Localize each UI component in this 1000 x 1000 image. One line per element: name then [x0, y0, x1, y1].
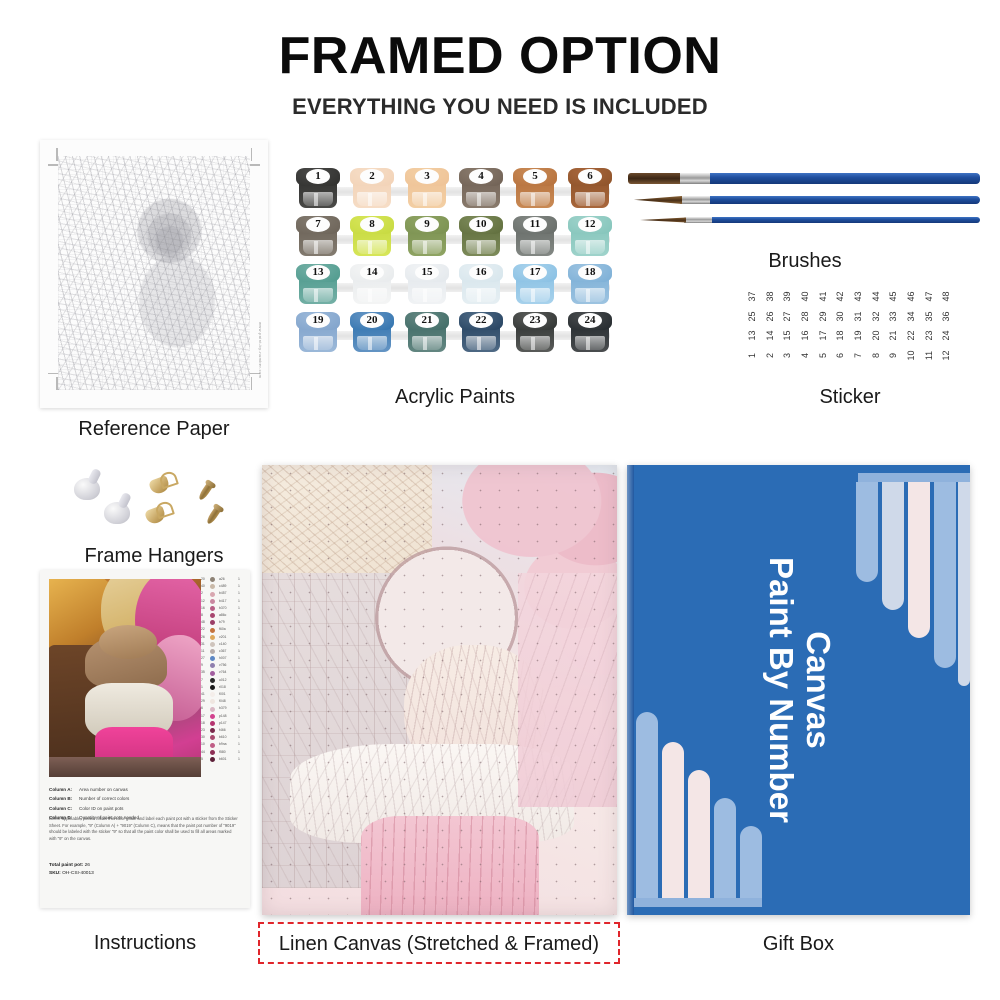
paint-pot-14: 14 — [350, 264, 394, 306]
legend-color-id: b417 — [219, 599, 227, 603]
gift-box-top-bar — [858, 473, 970, 482]
legend-color-swatch — [210, 642, 215, 647]
legend-row: 11c3671 — [201, 648, 245, 655]
paint-pot-3: 3 — [405, 168, 449, 210]
paint-pot-19: 19 — [296, 312, 340, 354]
legend-color-id: b601 — [219, 757, 227, 761]
legend-row: 20a261 — [201, 576, 245, 583]
sticker-column: 4432208 — [868, 288, 885, 366]
legend-color-id: f60a — [219, 627, 226, 631]
legend-area-number: 5 — [201, 757, 203, 761]
legend-quantity: 1 — [238, 692, 240, 696]
instructions-column-line: Column B:Number of correct colors — [49, 793, 198, 802]
sticker-number-3: 3 — [779, 347, 796, 364]
paint-pot-number: 19 — [306, 313, 330, 328]
paint-pot-22: 22 — [459, 312, 503, 354]
paint-pot-number: 4 — [469, 169, 493, 184]
paint-pot-6: 6 — [568, 168, 612, 210]
sticker-number-44: 44 — [868, 288, 885, 305]
legend-color-id: f048 — [219, 699, 226, 703]
column-description: Number of correct colors — [79, 796, 129, 801]
legend-quantity: 1 — [238, 728, 240, 732]
legend-area-number: 48 — [201, 620, 205, 624]
legend-row: 10b9na1 — [201, 741, 245, 748]
legend-row: 8a86c1 — [201, 612, 245, 619]
legend-color-swatch — [210, 656, 215, 661]
legend-color-id: c367 — [219, 649, 226, 653]
legend-color-id: v201 — [219, 635, 226, 639]
legend-quantity: 1 — [238, 721, 240, 725]
paint-pot-21: 21 — [405, 312, 449, 354]
column-description: Color ID on paint pots — [79, 806, 123, 811]
paint-pot-number: 15 — [415, 265, 439, 280]
legend-quantity: 1 — [238, 678, 240, 682]
sticker-sheet: 3725131382614239271534028164412917542301… — [744, 288, 956, 366]
paint-pot-4: 4 — [459, 168, 503, 210]
legend-color-swatch — [210, 628, 215, 633]
paint-pot-number: 21 — [415, 313, 439, 328]
instructions-color-legend: 20a26140c48912b457112b417116b37018a86c14… — [201, 576, 245, 778]
instructions-preview-image — [49, 579, 201, 777]
instructions-paragraph: where applicable, please follow this col… — [49, 816, 240, 842]
acrylic-paints-label: Acrylic Paints — [292, 386, 618, 409]
legend-color-swatch — [210, 743, 215, 748]
legend-color-id: f001 — [219, 692, 226, 696]
legend-row: 2b4571 — [201, 590, 245, 597]
legend-quantity: 1 — [238, 663, 240, 667]
sticker-number-32: 32 — [868, 308, 885, 325]
sticker-column: 4230186 — [832, 288, 849, 366]
brush-large — [628, 173, 980, 184]
legend-color-swatch — [210, 685, 215, 690]
instructions-sheet: 20a26140c48912b457112b417116b37018a86c14… — [40, 570, 250, 908]
brush-medium — [628, 196, 980, 204]
legend-area-number: 30 — [201, 735, 205, 739]
paint-pot-number: 10 — [469, 217, 493, 232]
sticker-number-33: 33 — [885, 308, 902, 325]
legend-quantity: 1 — [238, 656, 240, 660]
paint-pot-number: 18 — [578, 265, 602, 280]
sticker-number-27: 27 — [779, 308, 796, 325]
paint-pot-12: 12 — [568, 216, 612, 258]
paint-pot-row: 123456 — [292, 168, 618, 210]
legend-area-number: 22 — [201, 627, 205, 631]
linen-canvas — [262, 465, 617, 915]
reference-paper-watermark: www.paint-by-number.com — [258, 322, 263, 378]
paint-pot-rail — [300, 187, 610, 196]
legend-color-id: c489 — [219, 584, 226, 588]
legend-area-number: 12 — [201, 599, 205, 603]
reference-paper-label: Reference Paper — [40, 418, 268, 441]
legend-color-id: v756 — [219, 663, 226, 667]
legend-area-number: 41 — [201, 692, 205, 696]
gift-box-title-line-1: Canvas — [799, 557, 836, 823]
paint-pot-number: 3 — [415, 169, 439, 184]
legend-color-swatch — [210, 663, 215, 668]
sticker-label: Sticker — [744, 386, 956, 409]
legend-quantity: 1 — [238, 635, 240, 639]
legend-color-swatch — [210, 606, 215, 611]
paint-pot-number: 24 — [578, 313, 602, 328]
paint-pot-number: 13 — [306, 265, 330, 280]
legend-row: 30b6101 — [201, 734, 245, 741]
legend-color-id: a26 — [219, 577, 225, 581]
legend-color-id: r018 — [219, 685, 226, 689]
legend-quantity: 1 — [238, 599, 240, 603]
legend-color-swatch — [210, 671, 215, 676]
paint-pot-row: 131415161718 — [292, 264, 618, 306]
legend-row: 23f4661 — [201, 727, 245, 734]
frame-hangers-label: Frame Hangers — [40, 545, 268, 568]
legend-color-swatch — [210, 678, 215, 683]
total-paint-pots-label: Total paint pot: — [49, 863, 83, 868]
sticker-number-11: 11 — [921, 347, 938, 364]
legend-row: 7u0121 — [201, 677, 245, 684]
page-subtitle: EVERYTHING YOU NEED IS INCLUDED — [0, 96, 1000, 118]
paint-pot-5: 5 — [513, 168, 557, 210]
wall-plug-icon — [104, 502, 130, 524]
legend-area-number: 2 — [201, 591, 203, 595]
sticker-number-47: 47 — [921, 288, 938, 305]
brushes — [628, 165, 980, 243]
legend-color-id: c140 — [219, 642, 226, 646]
brushes-label: Brushes — [700, 250, 910, 273]
paint-pot-number: 11 — [523, 217, 547, 232]
legend-color-swatch — [210, 692, 215, 697]
legend-area-number: 29 — [201, 699, 205, 703]
sku-value: OH-CSI-40013 — [62, 871, 94, 876]
legend-color-swatch — [210, 584, 215, 589]
legend-quantity: 1 — [238, 584, 240, 588]
paint-pot-2: 2 — [350, 168, 394, 210]
legend-color-id: b457 — [219, 591, 227, 595]
sticker-number-23: 23 — [921, 327, 938, 344]
sticker-column: 47352311 — [921, 288, 938, 366]
instructions-column-line: Column A:Area number on canvas — [49, 784, 198, 793]
paint-pot-number: 7 — [306, 217, 330, 232]
sticker-number-38: 38 — [762, 288, 779, 305]
sticker-number-4: 4 — [797, 347, 814, 364]
column-key: Column B: — [49, 796, 79, 802]
wall-plug-icon — [74, 478, 100, 500]
legend-color-swatch — [210, 613, 215, 618]
legend-quantity: 1 — [238, 670, 240, 674]
legend-area-number: 20 — [201, 577, 205, 581]
legend-color-swatch — [210, 757, 215, 762]
sticker-column: 3725131 — [744, 288, 761, 366]
legend-quantity: 1 — [238, 714, 240, 718]
instructions-label: Instructions — [40, 932, 250, 955]
paint-pot-rail — [300, 331, 610, 340]
legend-color-swatch — [210, 699, 215, 704]
legend-color-id: v764 — [219, 670, 226, 674]
sticker-number-6: 6 — [832, 347, 849, 364]
sticker-number-17: 17 — [815, 327, 832, 344]
gift-box-bottom-bar — [634, 898, 762, 907]
product-feature-image: FRAMED OPTION EVERYTHING YOU NEED IS INC… — [0, 0, 1000, 1000]
legend-color-swatch — [210, 620, 215, 625]
sticker-number-42: 42 — [832, 288, 849, 305]
sticker-number-12: 12 — [938, 347, 955, 364]
sticker-number-35: 35 — [921, 308, 938, 325]
sticker-number-1: 1 — [744, 347, 761, 364]
legend-quantity: 1 — [238, 606, 240, 610]
legend-area-number: 26 — [201, 635, 205, 639]
legend-color-swatch — [210, 714, 215, 719]
legend-color-id: f466 — [219, 728, 226, 732]
gift-box-title: Canvas Paint By Number — [762, 557, 836, 823]
legend-color-id: b370 — [219, 606, 227, 610]
gift-box: Canvas Paint By Number — [627, 465, 970, 915]
paint-pot-number: 8 — [360, 217, 384, 232]
paint-pot-13: 13 — [296, 264, 340, 306]
sticker-number-8: 8 — [868, 347, 885, 364]
legend-area-number: 16 — [201, 606, 205, 610]
sticker-number-10: 10 — [903, 347, 920, 364]
paint-pot-number: 16 — [469, 265, 493, 280]
legend-quantity: 1 — [238, 577, 240, 581]
paint-pot-8: 8 — [350, 216, 394, 258]
paint-pot-number: 1 — [306, 169, 330, 184]
instructions-column-line: Column C:Color ID on paint pots — [49, 803, 198, 812]
paint-pot-7: 7 — [296, 216, 340, 258]
legend-color-swatch — [210, 592, 215, 597]
legend-color-id: f580 — [219, 750, 226, 754]
legend-quantity: 1 — [238, 649, 240, 653]
sticker-number-19: 19 — [850, 327, 867, 344]
sticker-number-7: 7 — [850, 347, 867, 364]
legend-color-id: p147 — [219, 721, 227, 725]
sticker-number-13: 13 — [744, 327, 761, 344]
sticker-number-29: 29 — [815, 308, 832, 325]
sticker-number-25: 25 — [744, 308, 761, 325]
paint-pot-24: 24 — [568, 312, 612, 354]
column-description: Area number on canvas — [79, 787, 128, 792]
legend-color-id: b379 — [219, 706, 227, 710]
sticker-number-9: 9 — [885, 347, 902, 364]
d-ring-hanger-icon — [150, 474, 175, 496]
gift-box-title-line-2: Paint By Number — [762, 557, 799, 823]
sticker-column: 3927153 — [779, 288, 796, 366]
sticker-number-21: 21 — [885, 327, 902, 344]
paint-pot-number: 20 — [360, 313, 384, 328]
legend-color-swatch — [210, 649, 215, 654]
legend-row: 1r0181 — [201, 684, 245, 691]
legend-color-id: b610 — [219, 735, 227, 739]
legend-quantity: 1 — [238, 750, 240, 754]
legend-quantity: 1 — [238, 742, 240, 746]
sticker-number-30: 30 — [832, 308, 849, 325]
sticker-number-15: 15 — [779, 327, 796, 344]
legend-row: 48b791 — [201, 619, 245, 626]
legend-row: 16b3701 — [201, 605, 245, 612]
legend-color-swatch — [210, 635, 215, 640]
legend-row: 27h0071 — [201, 655, 245, 662]
paint-pot-number: 17 — [523, 265, 547, 280]
legend-row: 40c4891 — [201, 583, 245, 590]
legend-area-number: 11 — [201, 649, 205, 653]
linen-canvas-label: Linen Canvas (Stretched & Framed) — [258, 933, 620, 956]
legend-row: 41f0011 — [201, 691, 245, 698]
total-paint-pots-value: 26 — [85, 863, 90, 868]
brush-fine — [628, 217, 980, 223]
legend-quantity: 1 — [238, 685, 240, 689]
sticker-number-26: 26 — [762, 308, 779, 325]
legend-row: 17p1481 — [201, 713, 245, 720]
paint-pot-number: 22 — [469, 313, 493, 328]
legend-quantity: 1 — [238, 627, 240, 631]
legend-row: 29f0481 — [201, 698, 245, 705]
page-title: FRAMED OPTION — [0, 30, 1000, 82]
sticker-number-14: 14 — [762, 327, 779, 344]
legend-row: 9v7561 — [201, 662, 245, 669]
legend-color-swatch — [210, 599, 215, 604]
sticker-column: 3826142 — [762, 288, 779, 366]
legend-quantity: 1 — [238, 620, 240, 624]
legend-color-swatch — [210, 750, 215, 755]
paint-pot-9: 9 — [405, 216, 449, 258]
legend-quantity: 1 — [238, 757, 240, 761]
screw-icon — [205, 506, 221, 526]
legend-row: 6b3791 — [201, 705, 245, 712]
legend-color-swatch — [210, 728, 215, 733]
paint-pot-23: 23 — [513, 312, 557, 354]
reference-paper-lineart — [58, 156, 250, 390]
legend-row: 35v7641 — [201, 669, 245, 676]
paint-pot-number: 23 — [523, 313, 547, 328]
paint-pot-20: 20 — [350, 312, 394, 354]
legend-quantity: 1 — [238, 735, 240, 739]
sticker-number-45: 45 — [885, 288, 902, 305]
paint-pot-10: 10 — [459, 216, 503, 258]
legend-color-swatch — [210, 707, 215, 712]
legend-color-id: b9na — [219, 742, 227, 746]
paint-pot-row: 789101112 — [292, 216, 618, 258]
sticker-number-43: 43 — [850, 288, 867, 305]
legend-area-number: 10 — [201, 742, 205, 746]
legend-area-number: 31 — [201, 642, 205, 646]
sticker-number-34: 34 — [903, 308, 920, 325]
paint-pot-rail — [300, 235, 610, 244]
paint-pot-1: 1 — [296, 168, 340, 210]
legend-row: 26v2011 — [201, 634, 245, 641]
legend-color-swatch — [210, 577, 215, 582]
sticker-number-48: 48 — [938, 288, 955, 305]
sticker-column: 48362412 — [938, 288, 955, 366]
legend-quantity: 1 — [238, 699, 240, 703]
sticker-column: 4533219 — [885, 288, 902, 366]
paint-pot-number: 2 — [360, 169, 384, 184]
sticker-number-5: 5 — [815, 347, 832, 364]
frame-hangers — [62, 470, 262, 546]
sticker-number-39: 39 — [779, 288, 796, 305]
sticker-column: 4129175 — [815, 288, 832, 366]
gift-box-label: Gift Box — [627, 933, 970, 956]
reference-paper: www.paint-by-number.com — [40, 140, 268, 408]
sticker-column: 4331197 — [850, 288, 867, 366]
instructions-footer: Total paint pot: 26 SKU: OH-CSI-40013 — [49, 862, 94, 878]
paint-pot-rail — [300, 283, 610, 292]
sticker-number-37: 37 — [744, 288, 761, 305]
sticker-number-36: 36 — [938, 308, 955, 325]
gift-box-spine — [627, 465, 634, 915]
legend-area-number: 18 — [201, 721, 205, 725]
paint-pot-16: 16 — [459, 264, 503, 306]
legend-area-number: 7 — [201, 678, 203, 682]
paint-pot-number: 5 — [523, 169, 547, 184]
paint-pot-number: 6 — [578, 169, 602, 184]
legend-color-id: h007 — [219, 656, 227, 660]
sticker-number-31: 31 — [850, 308, 867, 325]
sticker-number-28: 28 — [797, 308, 814, 325]
sticker-number-40: 40 — [797, 288, 814, 305]
legend-quantity: 1 — [238, 613, 240, 617]
acrylic-paints: 123456789101112131415161718192021222324 — [292, 168, 618, 360]
paint-pot-11: 11 — [513, 216, 557, 258]
paint-pot-number: 12 — [578, 217, 602, 232]
legend-area-number: 9 — [201, 663, 203, 667]
legend-quantity: 1 — [238, 591, 240, 595]
sticker-number-46: 46 — [903, 288, 920, 305]
sticker-number-16: 16 — [797, 327, 814, 344]
paint-pot-number: 14 — [360, 265, 384, 280]
legend-area-number: 8 — [201, 613, 203, 617]
legend-row: 22f60a1 — [201, 626, 245, 633]
legend-area-number: 17 — [201, 714, 205, 718]
legend-area-number: 40 — [201, 584, 205, 588]
paint-pot-row: 192021222324 — [292, 312, 618, 354]
legend-color-id: a86c — [219, 613, 226, 617]
legend-quantity: 1 — [238, 706, 240, 710]
sku-label: SKU: — [49, 871, 61, 876]
sticker-number-20: 20 — [868, 327, 885, 344]
legend-quantity: 1 — [238, 642, 240, 646]
sticker-number-18: 18 — [832, 327, 849, 344]
legend-color-id: u012 — [219, 678, 227, 682]
legend-color-id: p148 — [219, 714, 227, 718]
legend-color-id: b79 — [219, 620, 225, 624]
paint-pot-17: 17 — [513, 264, 557, 306]
legend-row: 18p1471 — [201, 720, 245, 727]
legend-color-swatch — [210, 735, 215, 740]
paint-pot-18: 18 — [568, 264, 612, 306]
screw-icon — [197, 482, 213, 502]
legend-row: 31c1401 — [201, 641, 245, 648]
legend-row: 12b4171 — [201, 598, 245, 605]
sticker-number-41: 41 — [815, 288, 832, 305]
sticker-column: 46342210 — [903, 288, 920, 366]
paint-pot-number: 9 — [415, 217, 439, 232]
legend-row: 5b6011 — [201, 756, 245, 763]
legend-area-number: 44 — [201, 750, 205, 754]
legend-area-number: 23 — [201, 728, 205, 732]
sticker-number-24: 24 — [938, 327, 955, 344]
paint-pot-15: 15 — [405, 264, 449, 306]
legend-row: 44f5801 — [201, 749, 245, 756]
legend-area-number: 1 — [201, 685, 203, 689]
sticker-column: 4028164 — [797, 288, 814, 366]
legend-area-number: 27 — [201, 656, 205, 660]
sticker-number-22: 22 — [903, 327, 920, 344]
legend-area-number: 35 — [201, 670, 205, 674]
sticker-number-2: 2 — [762, 347, 779, 364]
legend-area-number: 6 — [201, 706, 203, 710]
d-ring-hanger-icon — [146, 504, 171, 526]
legend-color-swatch — [210, 721, 215, 726]
